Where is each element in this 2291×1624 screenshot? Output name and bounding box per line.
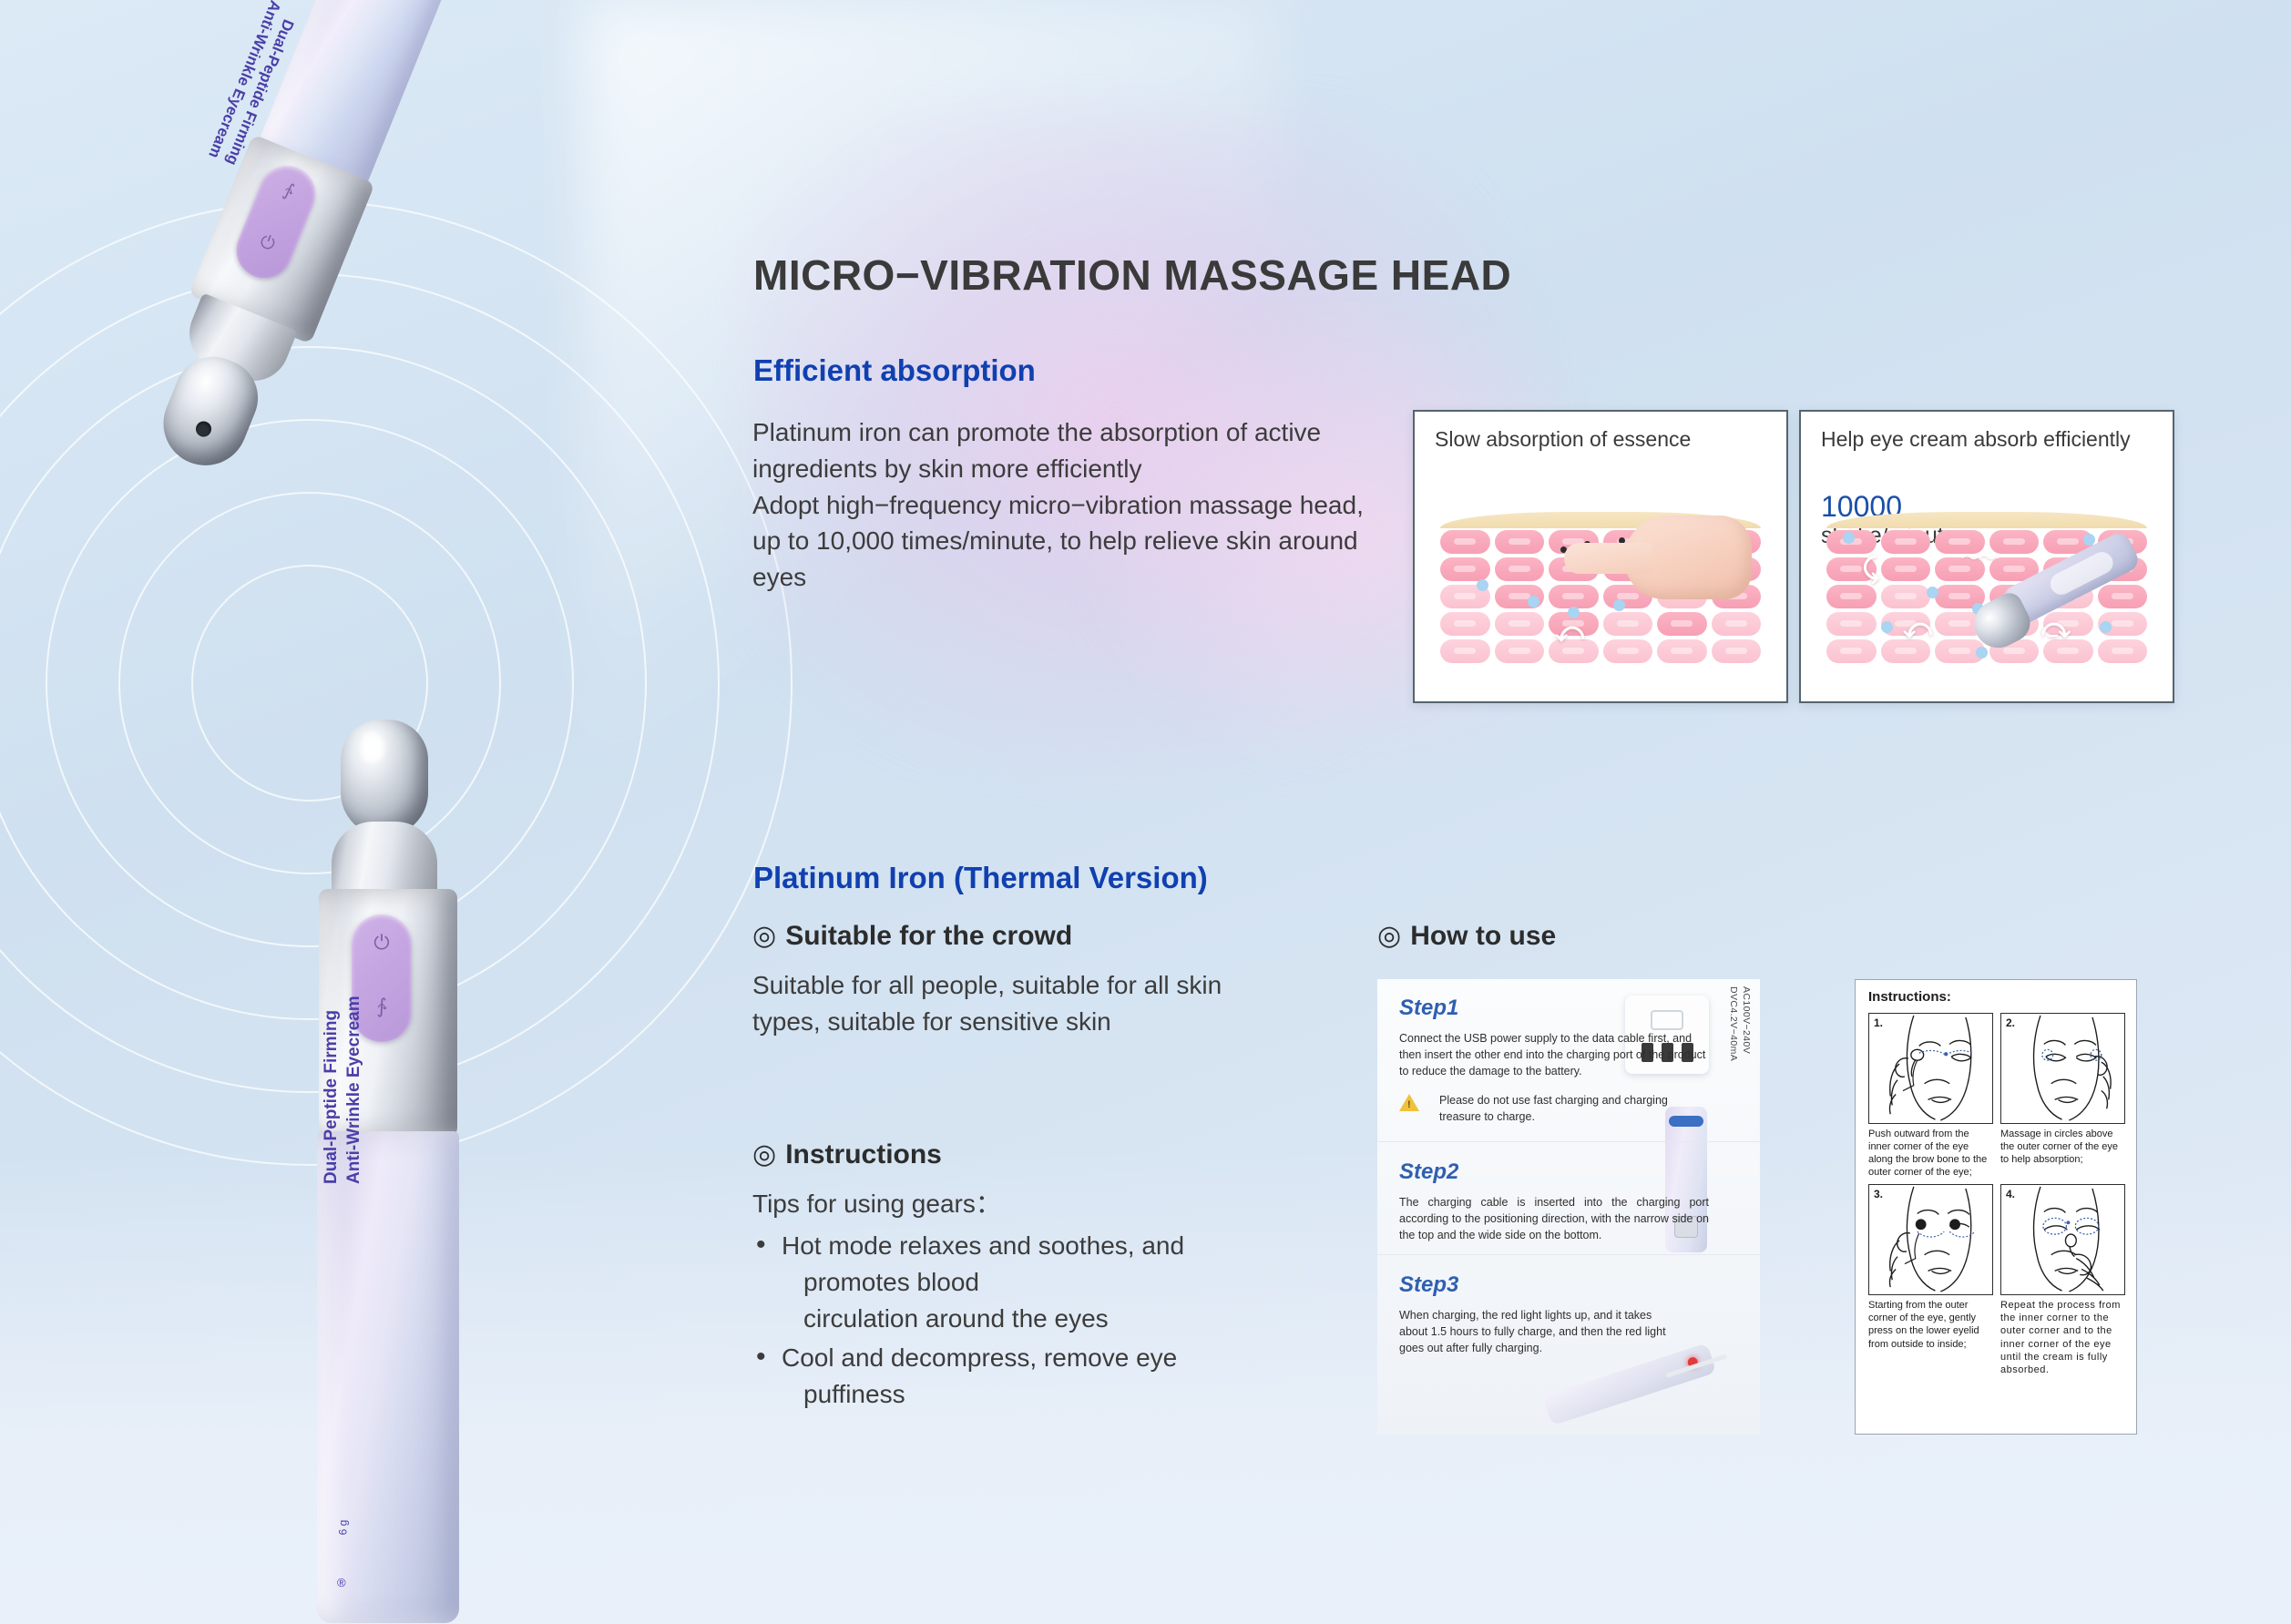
- comparison-title-right: Help eye cream absorb efficiently: [1821, 426, 2149, 452]
- step-1-title: Step1: [1399, 996, 1458, 1021]
- instruction-item-4: 4.: [2000, 1184, 2125, 1375]
- bullet-line2: promotes blood: [782, 1264, 1390, 1301]
- power-icon: ⏻: [237, 223, 297, 264]
- skin-illustration-slow: ⤺: [1440, 512, 1761, 681]
- heading-instructions-label: Instructions: [785, 1139, 942, 1169]
- step-2-title: Step2: [1399, 1159, 1458, 1185]
- highlight-decoration: [361, 732, 384, 763]
- usage-instructions-card: Instructions: 1.: [1855, 979, 2137, 1435]
- adapter-face: [1651, 1010, 1683, 1030]
- circulation-arrow-icon: ⤹: [1863, 554, 1879, 585]
- step-1-text: Connect the USB power supply to the data…: [1399, 1030, 1709, 1079]
- finger-illustration: [1564, 543, 1652, 574]
- instruction-caption-2: Massage in circles above the outer corne…: [2000, 1128, 2125, 1166]
- face-illustration-4: 4.: [2000, 1184, 2125, 1295]
- product-label-bottom: Dual-Peptide Firming Anti-Wrinkle Eyecre…: [321, 802, 365, 1184]
- instruction-item-1: 1.: [1868, 1013, 1993, 1179]
- face-illustration-3: 3.: [1868, 1184, 1993, 1295]
- list-item: Hot mode relaxes and soothes, and promot…: [752, 1228, 1390, 1336]
- instructions-grid: 1.: [1868, 1013, 2125, 1376]
- usb-icon: ∱: [259, 169, 320, 211]
- paragraph-line: Platinum iron can promote the absorption…: [752, 414, 1381, 487]
- step-1-warning-text: Please do not use fast charging and char…: [1439, 1092, 1713, 1125]
- registered-mark: ®: [337, 1576, 346, 1589]
- paragraph-line: Adopt high−frequency micro−vibration mas…: [752, 487, 1381, 596]
- tips-label: Tips for using gears：: [752, 1184, 1001, 1221]
- skin-illustration-efficient: 〜〜 ⤹ ⤻ ⤺ ⤼: [1826, 512, 2147, 681]
- paragraph-efficient-absorption: Platinum iron can promote the absorption…: [752, 414, 1381, 596]
- wand-button: [2047, 548, 2117, 598]
- charging-steps-panel: AC100V−240VDVC4.2V−40mA Step1 Connect th…: [1377, 979, 1760, 1435]
- step-2-text: The charging cable is inserted into the …: [1399, 1194, 1709, 1243]
- instruction-caption-4: Repeat the process from the inner corner…: [2000, 1299, 2125, 1375]
- list-item: Cool and decompress, remove eye puffines…: [752, 1340, 1390, 1413]
- hand-illustration: [1624, 516, 1752, 599]
- comparison-card-efficient-absorption: Help eye cream absorb efficiently 10000 …: [1799, 410, 2174, 703]
- comparison-card-slow-absorption: Slow absorption of essence ⤺: [1413, 410, 1788, 703]
- circulation-arrow-icon: ⤺: [1555, 618, 1584, 649]
- product-device-bottom: ⏻ ∱ Dual-Peptide Firming Anti-Wrinkle Ey…: [273, 720, 547, 1624]
- paragraph-suitable-for-crowd: Suitable for all people, suitable for al…: [752, 967, 1263, 1040]
- heading-instructions: ◎Instructions: [752, 1139, 942, 1170]
- bullet-line1: Hot mode relaxes and soothes, and: [782, 1231, 1184, 1260]
- instructions-bullet-list: Hot mode relaxes and soothes, and promot…: [752, 1228, 1390, 1416]
- device-button-top: ∱ ⏻: [228, 158, 323, 287]
- product-volume: 6 g: [336, 1520, 349, 1536]
- instruction-number: 2.: [2006, 1016, 2015, 1029]
- instruction-caption-3: Starting from the outer corner of the ey…: [1868, 1299, 1993, 1350]
- circulation-arrow-icon: ⤺: [1903, 614, 1932, 645]
- instruction-number: 3.: [1874, 1188, 1883, 1200]
- heading-suitable-for-crowd: ◎Suitable for the crowd: [752, 920, 1072, 952]
- massage-head-aperture: [193, 419, 213, 439]
- double-circle-marker-icon: ◎: [1377, 921, 1401, 951]
- instructions-card-title: Instructions:: [1868, 989, 1951, 1005]
- voltage-spec: AC100V−240VDVC4.2V−40mA: [1727, 986, 1753, 1061]
- instruction-item-3: 3. S: [1868, 1184, 1993, 1375]
- page-title: MICRO−VIBRATION MASSAGE HEAD: [753, 250, 1511, 300]
- warning-triangle-icon: [1399, 1094, 1419, 1111]
- instruction-number: 4.: [2006, 1188, 2015, 1200]
- heading-platinum-iron: Platinum Iron (Thermal Version): [753, 861, 1208, 895]
- instruction-number: 1.: [1874, 1016, 1883, 1029]
- wand-body: [1542, 1343, 1716, 1425]
- comparison-title-left: Slow absorption of essence: [1435, 426, 1763, 452]
- double-circle-marker-icon: ◎: [752, 921, 776, 951]
- bullet-line2: puffiness: [782, 1376, 1390, 1413]
- product-label-line2: Anti-Wrinkle Eyecream: [343, 802, 366, 1184]
- heading-crowd-label: Suitable for the crowd: [785, 921, 1072, 951]
- vibration-waves-icon: 〜〜: [1961, 543, 1996, 569]
- face-illustration-1: 1.: [1868, 1013, 1993, 1124]
- product-label-line1: Dual-Peptide Firming: [321, 802, 343, 1184]
- face-illustration-2: 2.: [2000, 1013, 2125, 1124]
- heading-how-to-use: ◎How to use: [1377, 920, 1556, 952]
- heading-how-to-use-label: How to use: [1410, 921, 1556, 951]
- bullet-line1: Cool and decompress, remove eye: [782, 1343, 1177, 1372]
- product-tube-bottom: [317, 1131, 459, 1623]
- instruction-item-2: 2. Massage in circles abov: [2000, 1013, 2125, 1179]
- double-circle-marker-icon: ◎: [752, 1139, 776, 1169]
- step-3-title: Step3: [1399, 1272, 1458, 1298]
- voltage-spec-text: AC100V−240VDVC4.2V−40mA: [1727, 986, 1753, 1061]
- instruction-caption-1: Push outward from the inner corner of th…: [1868, 1128, 1993, 1179]
- heading-efficient-absorption: Efficient absorption: [753, 353, 1036, 388]
- bullet-line3: circulation around the eyes: [782, 1301, 1390, 1337]
